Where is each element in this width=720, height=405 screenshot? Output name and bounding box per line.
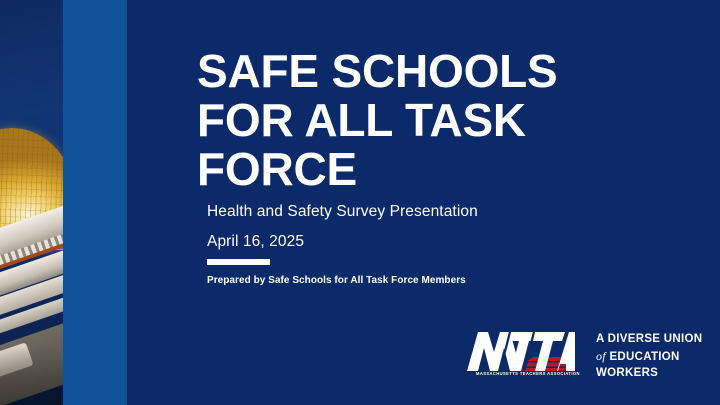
state-house-photo xyxy=(0,0,63,405)
mta-wordmark-icon: MASSACHUSETTS TEACHERS ASSOCIATION xyxy=(465,330,575,380)
slide-title: SAFE SCHOOLS FOR ALL TASK FORCE xyxy=(197,47,597,193)
mta-tagline: A DIVERSE UNION of EDUCATION WORKERS xyxy=(596,332,702,382)
tagline-line-2: EDUCATION xyxy=(609,351,679,363)
tagline-line-3: WORKERS xyxy=(596,367,658,379)
prepared-by-text: Prepared by Safe Schools for All Task Fo… xyxy=(207,274,487,288)
tagline-line-1: A DIVERSE UNION xyxy=(596,333,702,345)
tagline-of: of xyxy=(596,349,606,363)
slide-date: April 16, 2025 xyxy=(207,233,304,251)
presentation-title-slide: SAFE SCHOOLS FOR ALL TASK FORCE Health a… xyxy=(0,0,720,405)
photo-bottom-shadow xyxy=(0,345,63,405)
mta-logo: MASSACHUSETTS TEACHERS ASSOCIATION A DIV… xyxy=(465,330,710,386)
divider-rule xyxy=(207,259,270,265)
logo-divider xyxy=(587,332,588,376)
slide-content: SAFE SCHOOLS FOR ALL TASK FORCE Health a… xyxy=(127,0,720,405)
slide-subtitle: Health and Safety Survey Presentation xyxy=(207,203,478,221)
association-name: MASSACHUSETTS TEACHERS ASSOCIATION xyxy=(476,371,580,376)
accent-band xyxy=(63,0,127,405)
